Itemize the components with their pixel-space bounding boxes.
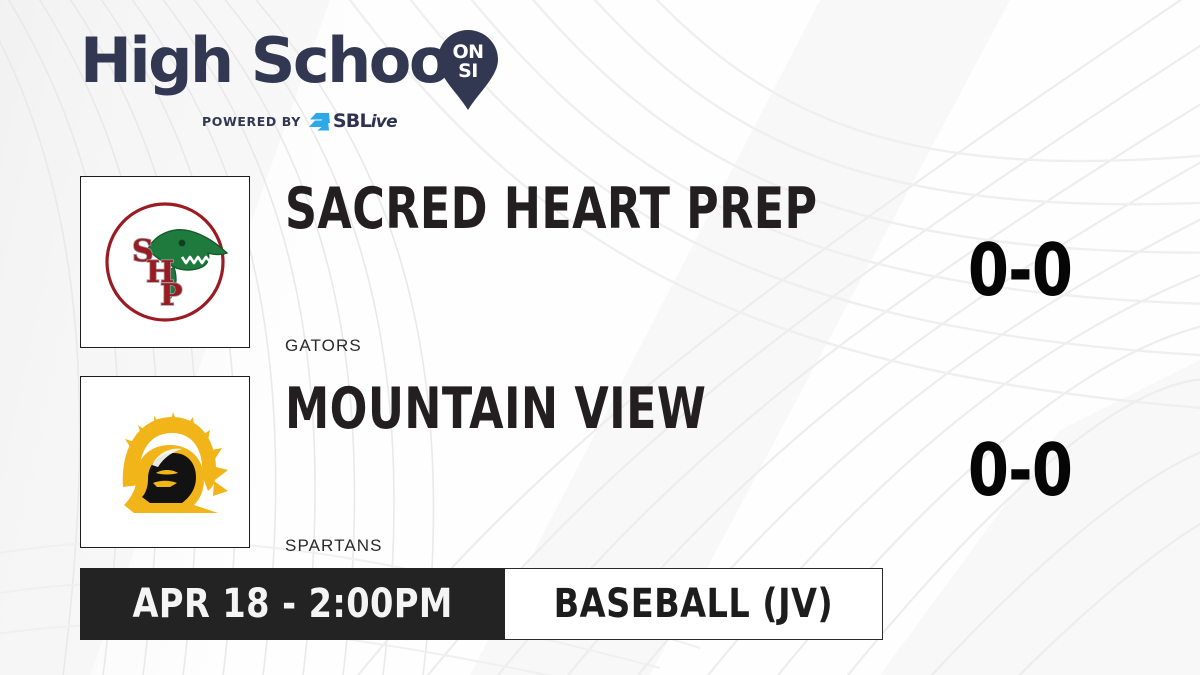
team-name-home: MOUNTAIN VIEW	[285, 377, 706, 441]
sblive-s-mark-icon	[308, 112, 331, 131]
pin-text-si: SI	[458, 60, 478, 82]
game-datetime-block: APR 18 - 2:00PM	[80, 568, 505, 640]
team-score-home: 0-0	[938, 434, 1102, 506]
mountain-view-spartan-helmet-logo-icon	[90, 387, 240, 537]
brand-lockup: High School ON SI POWERED BY SBLive	[80, 30, 510, 135]
team-logo-box-home	[80, 376, 250, 548]
team-logo-box-away: S H P	[80, 176, 250, 348]
brand-wordmark: High School	[80, 30, 468, 92]
team-score-away: 0-0	[938, 234, 1102, 306]
team-text-away: SACRED HEART PREP GATORS	[285, 176, 925, 348]
team-nickname-home: SPARTANS	[285, 536, 383, 556]
on-si-map-pin-icon: ON SI	[437, 29, 499, 111]
sblive-wordmark-bold: SBL	[333, 110, 371, 132]
game-info-banner: APR 18 - 2:00PM BASEBALL (JV)	[80, 568, 883, 640]
sacred-heart-prep-gator-logo-icon: S H P	[90, 187, 240, 337]
sblive-wordmark: SBLive	[333, 110, 397, 132]
team-text-home: MOUNTAIN VIEW SPARTANS	[285, 376, 925, 548]
team-name-away: SACRED HEART PREP	[285, 177, 817, 241]
svg-text:P: P	[160, 278, 183, 313]
powered-by-lockup: POWERED BY SBLive	[202, 110, 397, 132]
team-row-away: S H P SACRED HEART PREP GATORS 0-0	[80, 176, 1140, 348]
team-row-home: MOUNTAIN VIEW SPARTANS 0-0	[80, 376, 1140, 548]
game-datetime-text: APR 18 - 2:00PM	[132, 584, 452, 624]
powered-by-label: POWERED BY	[202, 114, 301, 129]
game-sport-text: BASEBALL (JV)	[554, 584, 834, 624]
scoreboard-graphic: High School ON SI POWERED BY SBLive	[0, 0, 1200, 675]
game-sport-block: BASEBALL (JV)	[505, 568, 883, 640]
sblive-logo: SBLive	[308, 110, 397, 132]
team-nickname-away: GATORS	[285, 336, 362, 356]
sblive-wordmark-italic: ive	[371, 112, 397, 132]
